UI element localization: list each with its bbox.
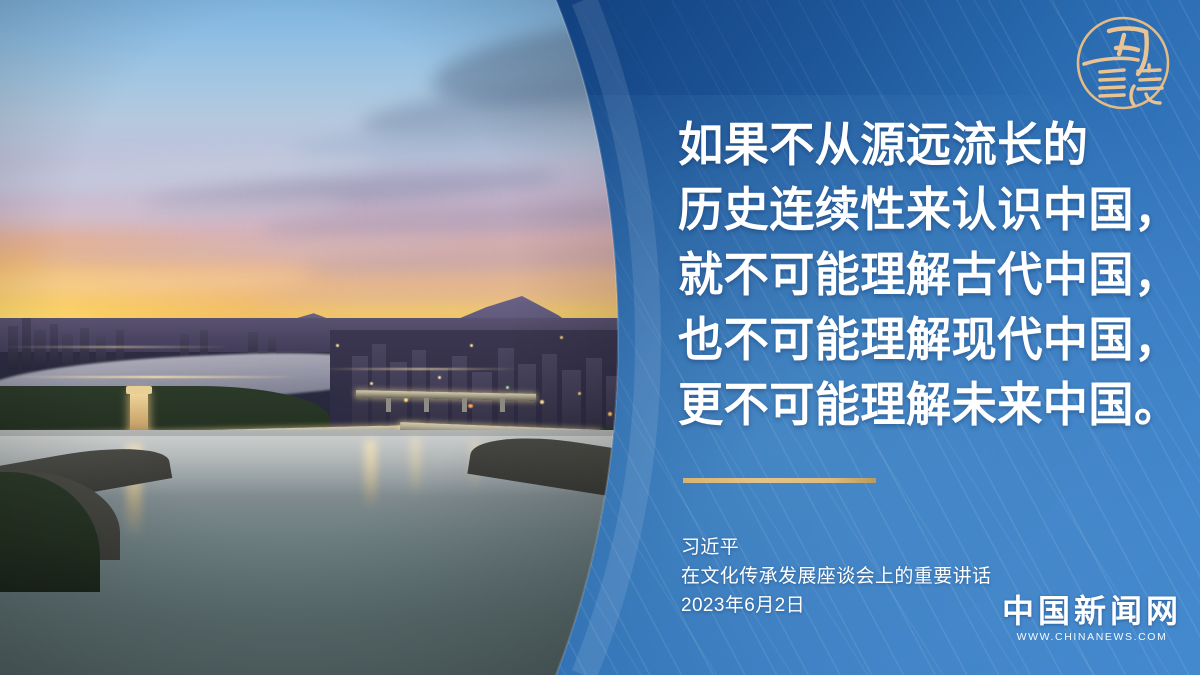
circular-seal-icon	[1064, 8, 1182, 120]
quote-line-1: 如果不从源远流长的	[678, 112, 1158, 177]
quote-line-4: 也不可能理解现代中国，	[678, 307, 1158, 372]
quote-line-5: 更不可能理解未来中国。	[678, 372, 1158, 437]
chinanews-logo: 中国新闻网 WWW.CHINANEWS.COM	[1002, 593, 1182, 645]
quote-block: 如果不从源远流长的 历史连续性来认识中国， 就不可能理解古代中国， 也不可能理解…	[678, 112, 1178, 437]
city-light	[506, 386, 509, 389]
city-light	[438, 376, 441, 379]
attribution-occasion: 在文化传承发展座谈会上的重要讲话	[681, 562, 991, 591]
light-strip	[0, 346, 230, 348]
light-strip	[320, 368, 520, 370]
building	[8, 326, 18, 370]
city-light	[404, 398, 408, 402]
arch-bridge-pier	[424, 398, 429, 412]
city-light	[370, 382, 373, 385]
arch-bridge-pier	[500, 398, 505, 412]
city-light	[336, 344, 339, 347]
xi-yan-dao-seal	[1064, 8, 1182, 120]
poster-root: 如果不从源远流长的 历史连续性来认识中国， 就不可能理解古代中国， 也不可能理解…	[0, 0, 1200, 675]
arch-bridge-pier	[386, 398, 391, 412]
aerial-cityscape-river-sunset-photo	[0, 0, 640, 675]
attribution-speaker: 习近平	[681, 533, 991, 562]
city-light	[608, 412, 612, 416]
city-light	[468, 404, 473, 408]
attribution-block: 习近平 在文化传承发展座谈会上的重要讲话 2023年6月2日	[681, 533, 991, 620]
arch-bridge-pier	[462, 398, 467, 412]
light-strip	[10, 376, 300, 378]
building	[34, 330, 46, 370]
chinanews-name: 中国新闻网	[1002, 593, 1182, 629]
building	[22, 318, 31, 370]
attribution-date: 2023年6月2日	[681, 591, 991, 620]
city-light	[470, 344, 473, 347]
city-light	[560, 336, 563, 339]
quote-line-2: 历史连续性来认识中国，	[678, 177, 1158, 242]
chinanews-url: WWW.CHINANEWS.COM	[1002, 630, 1182, 645]
bridge-pylon	[126, 386, 152, 394]
gold-divider	[683, 478, 876, 483]
city-light	[540, 400, 544, 404]
building	[62, 334, 73, 370]
photo-clip	[0, 0, 640, 675]
city-light	[578, 392, 581, 395]
quote-line-3: 就不可能理解古代中国，	[678, 242, 1158, 307]
